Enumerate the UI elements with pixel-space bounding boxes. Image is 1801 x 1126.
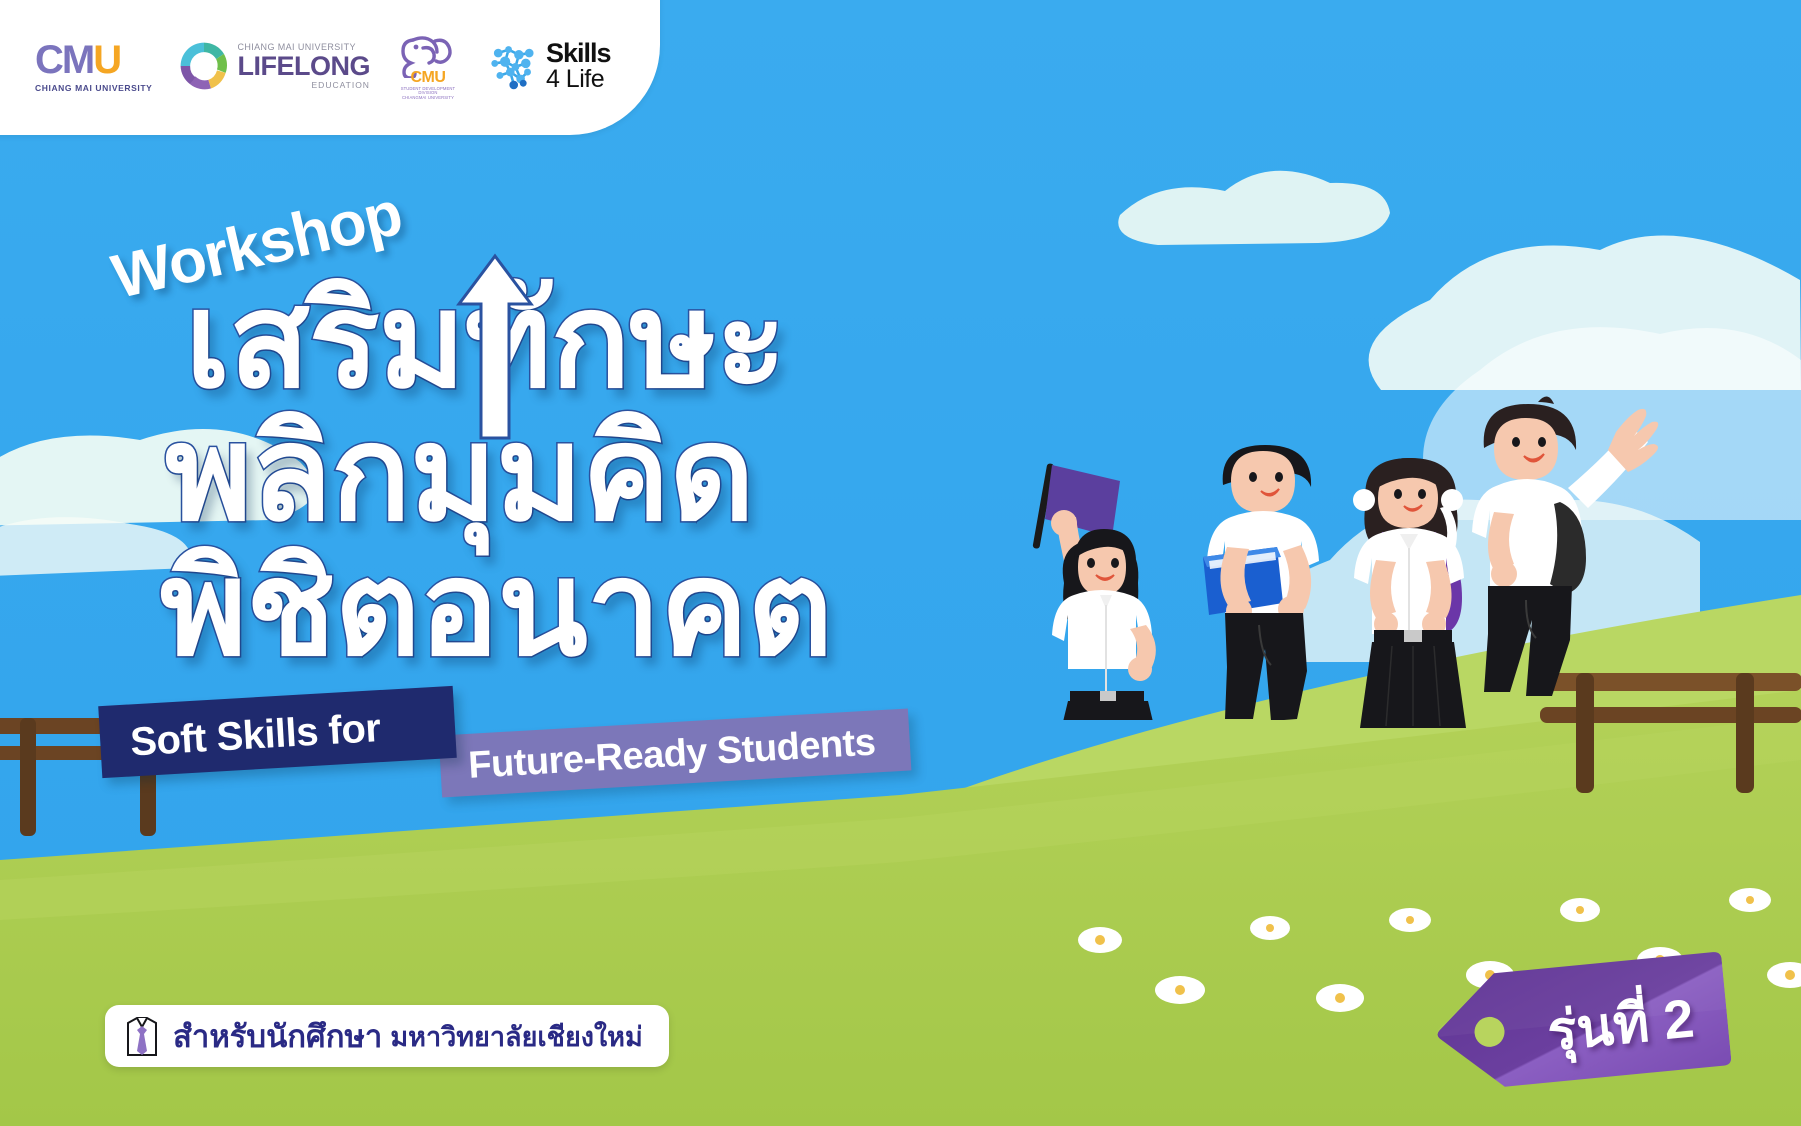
cmu-letter-m: M <box>62 38 93 82</box>
lifelong-wordmark: LIFELONG <box>237 52 370 80</box>
audience-pill: สำหรับนักศึกษา มหาวิทยาลัยเชียงใหม่ <box>105 1005 669 1067</box>
cmu-logo: CMU CHIANG MAI UNIVERSITY <box>35 40 152 93</box>
molecule-brain-icon <box>486 41 538 91</box>
cmu-wordmark: CMU <box>35 40 152 80</box>
lifelong-bottom-line: EDUCATION <box>237 81 370 90</box>
cmu-lifelong-education-logo: CHIANG MAI UNIVERSITY LIFELONG EDUCATION <box>178 40 370 92</box>
shirt-tie-icon <box>125 1015 159 1057</box>
sdd-cmu-logo: CMU STUDENT DEVELOPMENT DIVISION CHIANGM… <box>396 32 460 101</box>
batch-tag-label: รุ่นที่ 2 <box>1544 974 1698 1074</box>
cmu-subtitle: CHIANG MAI UNIVERSITY <box>35 83 152 93</box>
sdd-caption-line-2: CHIANGMAI UNIVERSITY <box>396 96 460 100</box>
logo-row: CMU CHIANG MAI UNIVERSITY <box>35 32 611 101</box>
lifelong-ring-icon <box>178 40 230 92</box>
audience-strong-text: สำหรับนักศึกษา <box>173 1011 382 1061</box>
headline-thai-line-3: พิชิตอนาคต <box>160 543 832 675</box>
skills-4-life-logo: Skills 4 Life <box>486 41 611 92</box>
skills-4-life-line-1: Skills <box>546 41 611 67</box>
soft-skills-label: Soft Skills for <box>129 706 381 765</box>
audience-normal-text: มหาวิทยาลัยเชียงใหม่ <box>390 1015 642 1058</box>
skills-4-life-line-2: 4 Life <box>546 67 611 92</box>
promo-banner: CMU CHIANG MAI UNIVERSITY <box>0 0 1801 1126</box>
student-waving <box>1440 390 1670 700</box>
upward-arrow-icon <box>455 252 535 442</box>
cmu-letter-c: C <box>35 38 62 82</box>
sdd-caption-line-1: STUDENT DEVELOPMENT DIVISION <box>396 87 460 95</box>
cmu-letter-u: U <box>93 38 120 82</box>
logo-bar: CMU CHIANG MAI UNIVERSITY <box>0 0 660 135</box>
